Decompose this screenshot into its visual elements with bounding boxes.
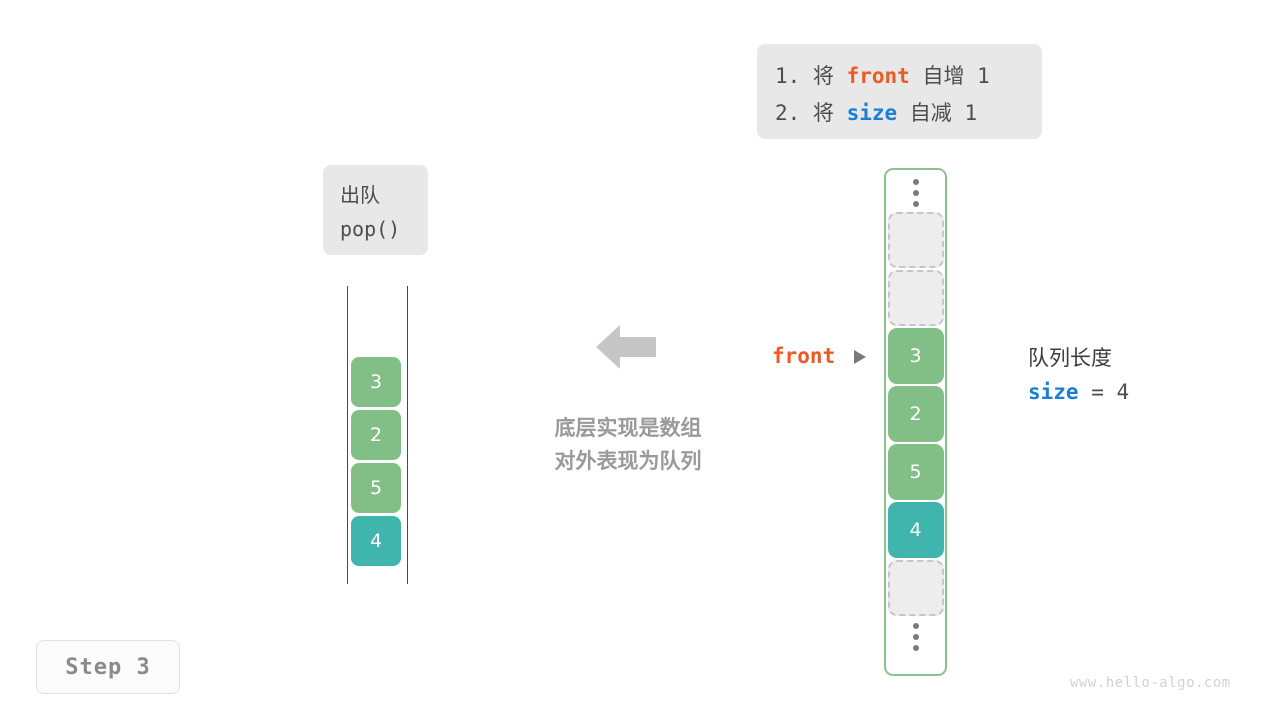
instruction-line-1: 1. 将 front 自增 1 [775, 58, 1042, 95]
size-annotation-value: size = 4 [1028, 374, 1129, 410]
watermark: www.hello-algo.com [1070, 675, 1231, 691]
queue-cell: 4 [351, 516, 401, 566]
queue-cell: 3 [351, 357, 401, 407]
array-slot: 5 [888, 444, 944, 500]
array-slot-list: 3 2 5 4 [886, 170, 945, 674]
size-number: 4 [1117, 380, 1130, 404]
caption-line-1: 底层实现是数组 [528, 412, 728, 445]
front-pointer-label: front [772, 344, 835, 368]
instruction-2-suffix: 自减 1 [897, 101, 977, 125]
size-annotation-title: 队列长度 [1028, 342, 1129, 374]
ellipsis-top-icon [913, 174, 919, 212]
operation-method: pop() [340, 212, 428, 246]
array-slot: 3 [888, 328, 944, 384]
instruction-box: 1. 将 front 自增 1 2. 将 size 自减 1 [757, 44, 1042, 139]
instruction-1-suffix: 自增 1 [910, 64, 990, 88]
instruction-1-keyword: front [847, 64, 910, 88]
instruction-2-keyword: size [847, 101, 898, 125]
caption-line-2: 对外表现为队列 [528, 445, 728, 478]
array-slot [888, 560, 944, 616]
array-slot [888, 270, 944, 326]
instruction-line-2: 2. 将 size 自减 1 [775, 95, 1042, 132]
queue-rail-left [347, 286, 348, 584]
queue-cell: 5 [351, 463, 401, 513]
operation-title: 出队 [340, 178, 428, 212]
array-slot [888, 212, 944, 268]
diagram-caption: 底层实现是数组 对外表现为队列 [528, 412, 728, 478]
array-slot: 2 [888, 386, 944, 442]
instruction-1-prefix: 1. 将 [775, 64, 847, 88]
arrow-left-icon [596, 322, 656, 372]
size-annotation: 队列长度 size = 4 [1028, 342, 1129, 410]
triangle-right-icon [854, 350, 866, 364]
step-badge: Step 3 [36, 640, 180, 694]
size-var-name: size [1028, 380, 1079, 404]
queue-rail-right [407, 286, 408, 584]
size-equals: = [1079, 380, 1117, 404]
array-slot: 4 [888, 502, 944, 558]
diagram-canvas: 1. 将 front 自增 1 2. 将 size 自减 1 出队 pop() … [0, 0, 1280, 720]
instruction-2-prefix: 2. 将 [775, 101, 847, 125]
queue-cell-list: 3 2 5 4 [351, 357, 403, 569]
ellipsis-bottom-icon [913, 618, 919, 656]
queue-cell: 2 [351, 410, 401, 460]
operation-label-box: 出队 pop() [323, 165, 428, 255]
